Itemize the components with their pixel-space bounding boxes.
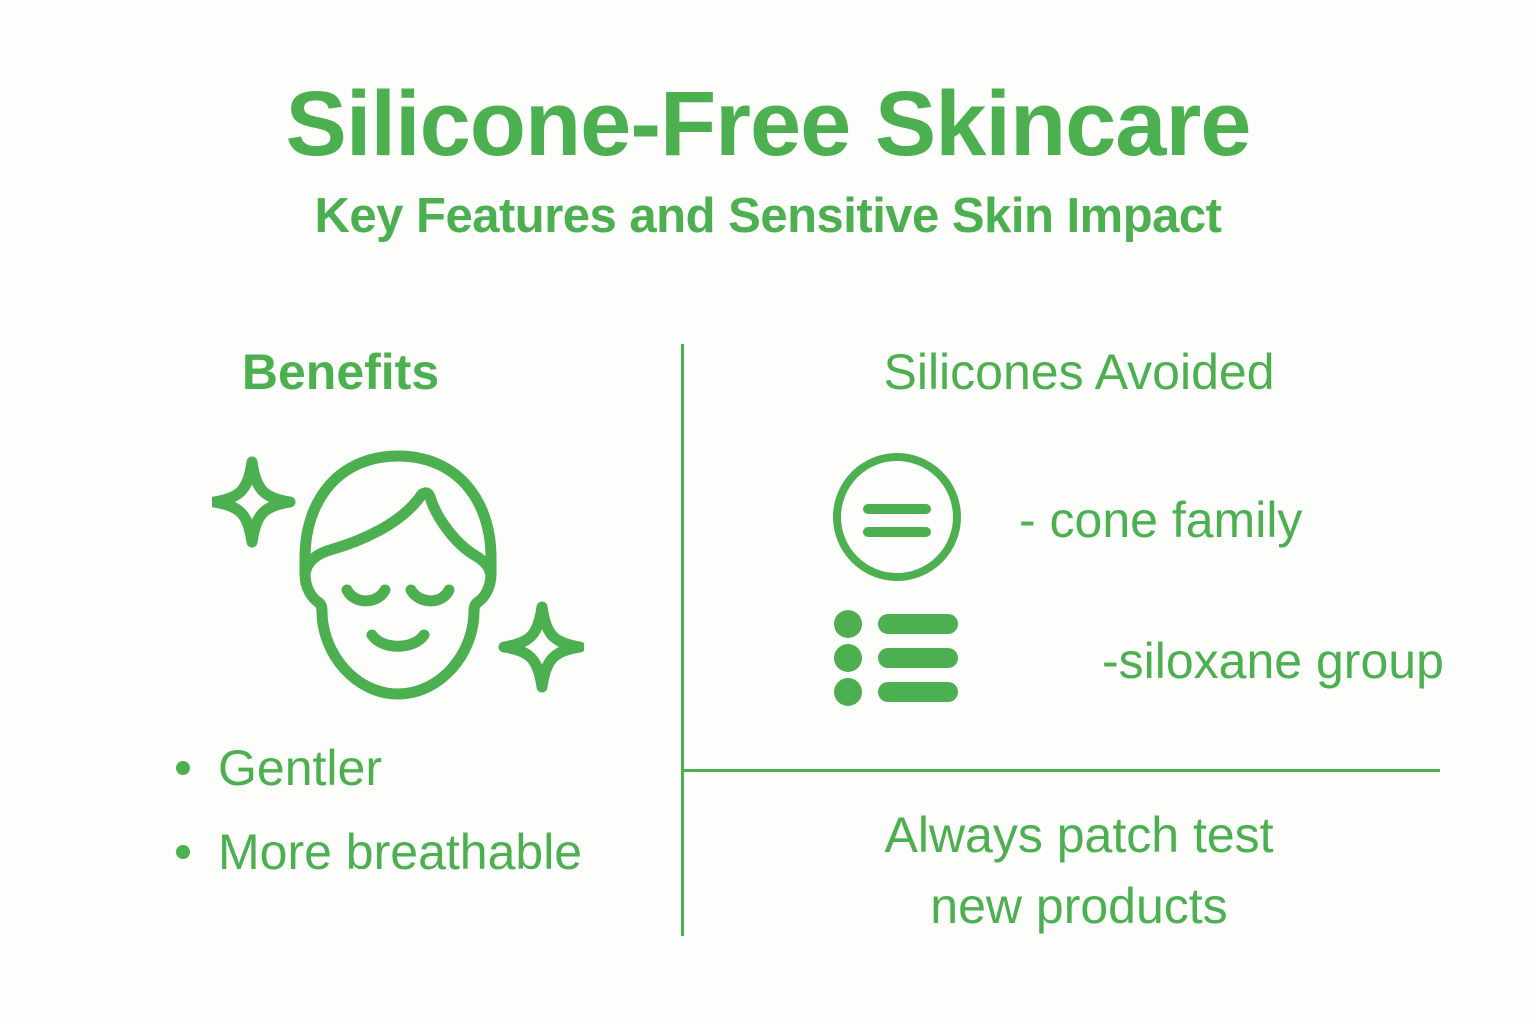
horizontal-divider — [683, 769, 1440, 772]
page-subtitle: Key Features and Sensitive Skin Impact — [0, 192, 1536, 241]
silicone-row-siloxane: -siloxane group — [830, 608, 1444, 713]
smiling-face-with-sparkles-icon — [212, 442, 584, 716]
list-dot-1 — [834, 610, 862, 638]
list-bar-3 — [878, 682, 958, 702]
head-outline-path — [305, 456, 491, 694]
equals-bar-top — [863, 504, 931, 514]
face-icon-svg — [212, 442, 584, 716]
bulleted-list-svg — [830, 608, 962, 708]
smile-path — [372, 635, 424, 646]
infographic-canvas: Silicone-Free Skincare Key Features and … — [0, 0, 1536, 1024]
benefit-label: More breathable — [218, 827, 582, 877]
benefit-label: Gentler — [218, 743, 382, 793]
benefits-list: Gentler More breathable — [176, 726, 676, 894]
list-bar-1 — [878, 614, 958, 634]
bulleted-list-icon — [830, 608, 962, 713]
hair-fringe-path — [306, 493, 490, 572]
silicones-avoided-heading: Silicones Avoided — [684, 347, 1474, 397]
right-eye-path — [411, 590, 449, 601]
equals-bar-bottom — [863, 527, 931, 537]
circle-outline — [837, 457, 957, 577]
header: Silicone-Free Skincare Key Features and … — [0, 78, 1536, 241]
list-dot-3 — [834, 678, 862, 706]
list-dot-2 — [834, 644, 862, 672]
left-eye-path — [347, 590, 385, 601]
silicone-label: -siloxane group — [1102, 636, 1444, 686]
benefits-heading: Benefits — [0, 347, 681, 397]
silicone-row-cone: - cone family — [830, 450, 1302, 589]
sparkle-bottom-right-icon — [504, 607, 580, 687]
footer-note-line-1: Always patch test — [684, 800, 1474, 871]
equals-in-circle-svg — [830, 450, 964, 584]
bullet-dot-icon — [176, 845, 190, 859]
footer-note: Always patch test new products — [684, 800, 1474, 942]
list-item: More breathable — [176, 810, 676, 894]
footer-note-line-2: new products — [684, 871, 1474, 942]
silicone-label: - cone family — [1019, 495, 1302, 545]
list-item: Gentler — [176, 726, 676, 810]
equals-in-circle-icon — [830, 450, 964, 589]
bullet-dot-icon — [176, 761, 190, 775]
sparkle-top-left-icon — [214, 462, 290, 542]
list-bar-2 — [878, 648, 958, 668]
page-title: Silicone-Free Skincare — [0, 78, 1536, 170]
